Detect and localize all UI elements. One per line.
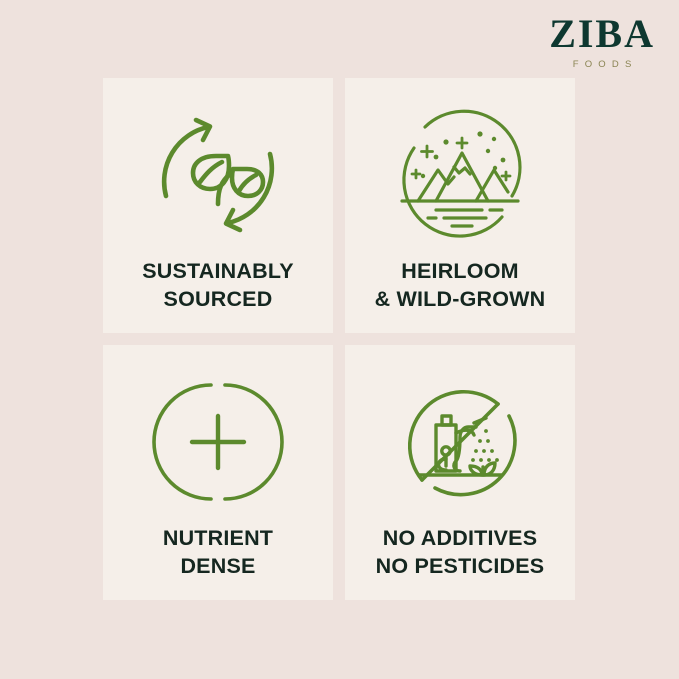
- mountain-landscape-icon: [390, 104, 530, 246]
- plus-circle-icon: [148, 371, 288, 513]
- badge-label: HEIRLOOM & WILD-GROWN: [369, 258, 552, 313]
- brand-name: ZIBA: [549, 14, 655, 55]
- badge-card-nutrient-dense: NUTRIENT DENSE: [103, 345, 333, 600]
- recycle-sprout-icon: [148, 104, 288, 246]
- badge-label: NUTRIENT DENSE: [157, 525, 279, 580]
- no-pesticide-sprayer-icon: [390, 371, 530, 513]
- badge-label: SUSTAINABLY SOURCED: [136, 258, 300, 313]
- badge-grid: SUSTAINABLY SOURCED: [103, 78, 575, 600]
- badge-label: NO ADDITIVES NO PESTICIDES: [370, 525, 551, 580]
- badge-card-heirloom-wild-grown: HEIRLOOM & WILD-GROWN: [345, 78, 575, 333]
- product-benefits-infographic: ZIBA FOODS: [0, 0, 679, 679]
- brand-subtitle: FOODS: [549, 60, 655, 70]
- brand-logo: ZIBA FOODS: [549, 14, 655, 69]
- badge-card-no-additives-no-pesticides: NO ADDITIVES NO PESTICIDES: [345, 345, 575, 600]
- badge-card-sustainably-sourced: SUSTAINABLY SOURCED: [103, 78, 333, 333]
